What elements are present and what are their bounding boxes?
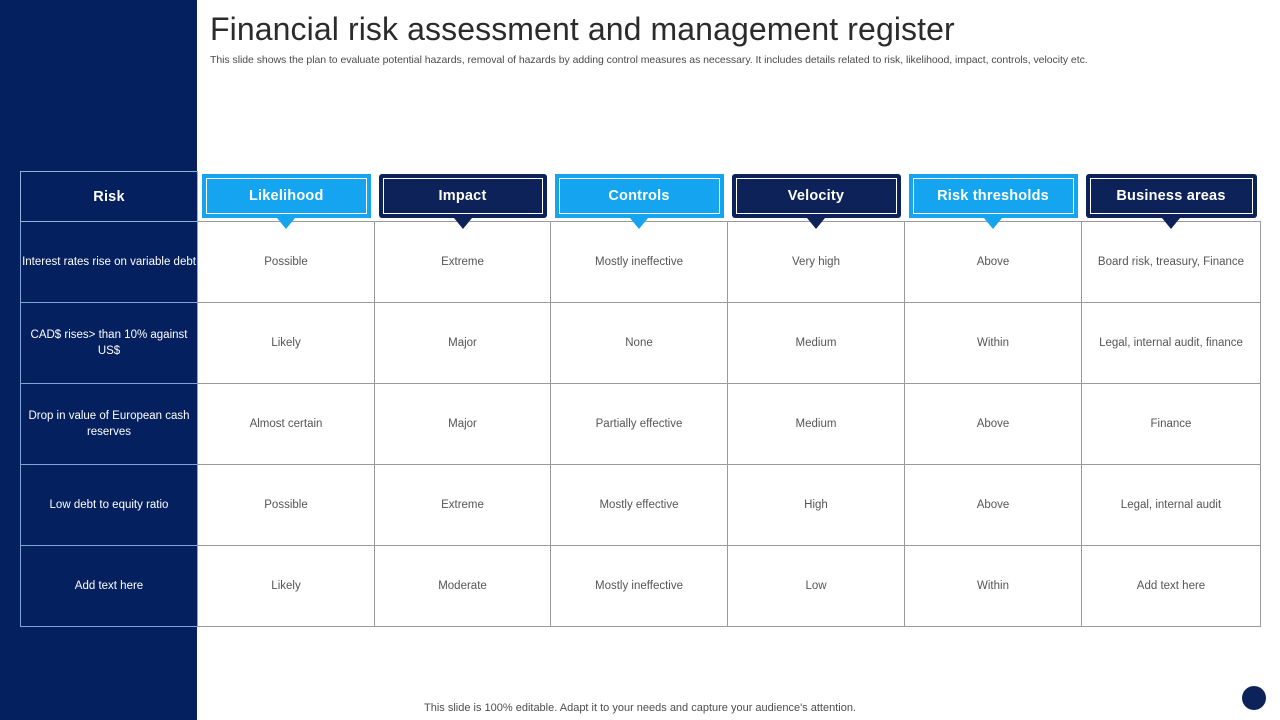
- risk-thresholds-badge[interactable]: Risk thresholds: [909, 174, 1078, 218]
- cell-risk[interactable]: Drop in value of European cash reserves: [21, 384, 198, 465]
- cell-impact[interactable]: Major: [375, 303, 551, 384]
- column-header-impact-label: Impact: [439, 188, 487, 204]
- column-header-business-areas[interactable]: Business areas: [1082, 172, 1261, 222]
- cell-likelihood[interactable]: Likely: [198, 303, 375, 384]
- cell-impact[interactable]: Extreme: [375, 222, 551, 303]
- impact-badge[interactable]: Impact: [379, 174, 547, 218]
- column-header-controls-label: Controls: [608, 188, 669, 204]
- chevron-down-icon: [984, 218, 1002, 229]
- cell-business-areas[interactable]: Board risk, treasury, Finance: [1082, 222, 1261, 303]
- corner-dot-decoration: [1242, 686, 1266, 710]
- velocity-badge[interactable]: Velocity: [732, 174, 901, 218]
- cell-risk-threshold[interactable]: Above: [905, 222, 1082, 303]
- cell-controls[interactable]: None: [551, 303, 728, 384]
- cell-risk-threshold[interactable]: Above: [905, 384, 1082, 465]
- column-header-impact[interactable]: Impact: [375, 172, 551, 222]
- column-header-velocity[interactable]: Velocity: [728, 172, 905, 222]
- cell-likelihood[interactable]: Likely: [198, 546, 375, 627]
- cell-risk[interactable]: Add text here: [21, 546, 198, 627]
- cell-risk-threshold[interactable]: Above: [905, 465, 1082, 546]
- table-row[interactable]: Low debt to equity ratio Possible Extrem…: [21, 465, 1261, 546]
- column-header-velocity-label: Velocity: [788, 188, 844, 204]
- cell-impact[interactable]: Major: [375, 384, 551, 465]
- chevron-down-icon: [454, 218, 472, 229]
- cell-velocity[interactable]: Medium: [728, 303, 905, 384]
- likelihood-badge[interactable]: Likelihood: [202, 174, 371, 218]
- cell-business-areas[interactable]: Add text here: [1082, 546, 1261, 627]
- controls-badge[interactable]: Controls: [555, 174, 724, 218]
- chevron-down-icon: [630, 218, 648, 229]
- chevron-down-icon: [277, 218, 295, 229]
- table-header-row: Risk Likelihood Impact Co: [21, 172, 1261, 222]
- cell-risk-threshold[interactable]: Within: [905, 303, 1082, 384]
- cell-likelihood[interactable]: Possible: [198, 222, 375, 303]
- cell-controls[interactable]: Mostly effective: [551, 465, 728, 546]
- table-row[interactable]: Add text here Likely Moderate Mostly ine…: [21, 546, 1261, 627]
- cell-velocity[interactable]: Very high: [728, 222, 905, 303]
- column-header-business-areas-label: Business areas: [1116, 188, 1225, 204]
- column-header-risk-label: Risk: [93, 189, 124, 205]
- page-title: Financial risk assessment and management…: [210, 8, 1260, 50]
- footer-note: This slide is 100% editable. Adapt it to…: [0, 702, 1280, 714]
- cell-business-areas[interactable]: Legal, internal audit: [1082, 465, 1261, 546]
- column-header-risk-thresholds-label: Risk thresholds: [937, 188, 1049, 204]
- cell-impact[interactable]: Moderate: [375, 546, 551, 627]
- cell-risk-threshold[interactable]: Within: [905, 546, 1082, 627]
- cell-risk[interactable]: CAD$ rises> than 10% against US$: [21, 303, 198, 384]
- table-row[interactable]: CAD$ rises> than 10% against US$ Likely …: [21, 303, 1261, 384]
- cell-controls[interactable]: Partially effective: [551, 384, 728, 465]
- cell-impact[interactable]: Extreme: [375, 465, 551, 546]
- cell-velocity[interactable]: Low: [728, 546, 905, 627]
- table-row[interactable]: Interest rates rise on variable debt Pos…: [21, 222, 1261, 303]
- column-header-likelihood[interactable]: Likelihood: [198, 172, 375, 222]
- cell-velocity[interactable]: High: [728, 465, 905, 546]
- cell-risk[interactable]: Interest rates rise on variable debt: [21, 222, 198, 303]
- page-subtitle: This slide shows the plan to evaluate po…: [210, 53, 1260, 68]
- cell-business-areas[interactable]: Finance: [1082, 384, 1261, 465]
- cell-likelihood[interactable]: Possible: [198, 465, 375, 546]
- column-header-risk-thresholds[interactable]: Risk thresholds: [905, 172, 1082, 222]
- chevron-down-icon: [807, 218, 825, 229]
- table-row[interactable]: Drop in value of European cash reserves …: [21, 384, 1261, 465]
- column-header-risk[interactable]: Risk: [21, 172, 198, 222]
- cell-controls[interactable]: Mostly ineffective: [551, 222, 728, 303]
- cell-business-areas[interactable]: Legal, internal audit, finance: [1082, 303, 1261, 384]
- business-areas-badge[interactable]: Business areas: [1086, 174, 1257, 218]
- slide-header: Financial risk assessment and management…: [210, 8, 1260, 68]
- cell-velocity[interactable]: Medium: [728, 384, 905, 465]
- cell-risk[interactable]: Low debt to equity ratio: [21, 465, 198, 546]
- column-header-likelihood-label: Likelihood: [249, 188, 324, 204]
- table-header: Risk Likelihood Impact Co: [21, 172, 1261, 222]
- column-header-controls[interactable]: Controls: [551, 172, 728, 222]
- table-body: Interest rates rise on variable debt Pos…: [21, 222, 1261, 627]
- cell-likelihood[interactable]: Almost certain: [198, 384, 375, 465]
- cell-controls[interactable]: Mostly ineffective: [551, 546, 728, 627]
- chevron-down-icon: [1162, 218, 1180, 229]
- risk-register-table: Risk Likelihood Impact Co: [20, 171, 1261, 627]
